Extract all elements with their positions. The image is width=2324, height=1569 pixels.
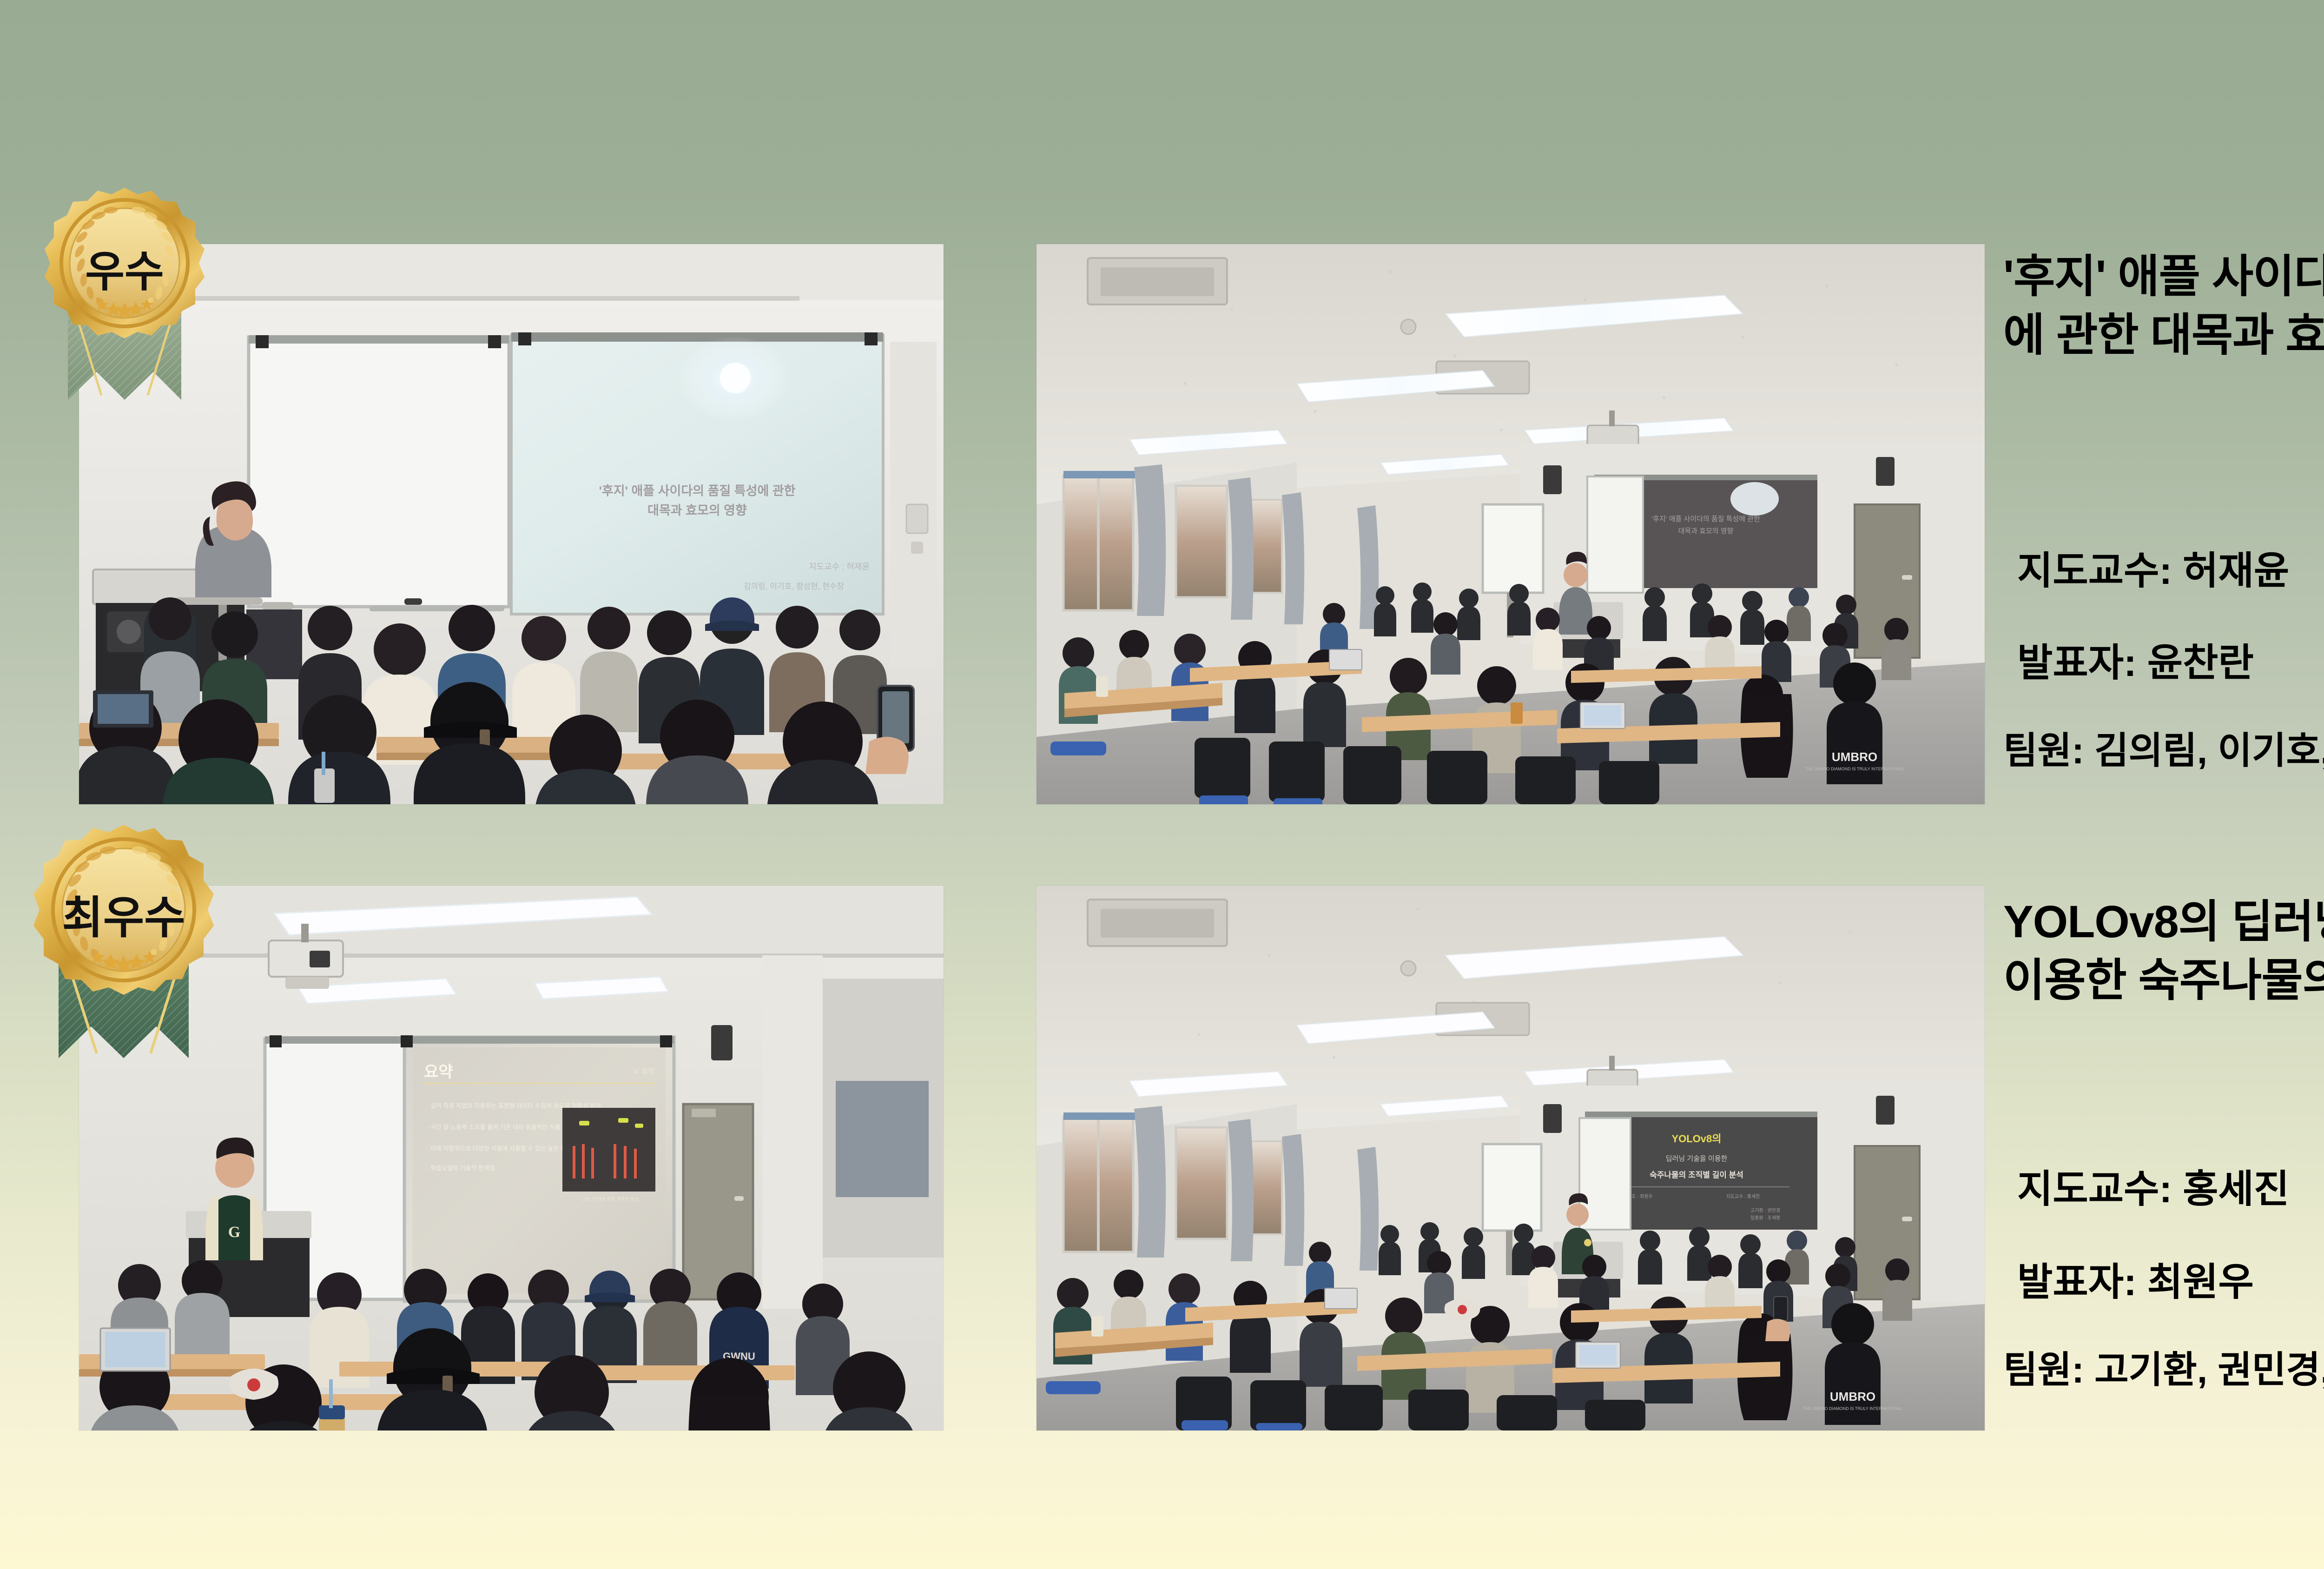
slide-yolo-title: YOLOv8의 — [1671, 1133, 1721, 1145]
entry-2-advisor-line: 지도교수: 홍세진 — [2017, 1168, 2289, 1211]
slide-canvas: '후지' 애플 사이다의 품질 특성에 관한 대목과 효모의 영향 지도교수 :… — [0, 0, 2324, 1569]
entry-1-team-label: 팀원: — [2003, 730, 2084, 771]
svg-text:UMBRO: UMBRO — [1830, 1390, 1875, 1403]
svg-text:딥러닝 기술을 이용한: 딥러닝 기술을 이용한 — [1666, 1155, 1728, 1163]
entry-1-advisor-label: 지도교수: — [2017, 549, 2172, 592]
entry-2-presenter-label: 발표자: — [2017, 1260, 2137, 1304]
entry-2-team-line: 팀원: 고기환, 권민경, 임종원, 조세영 — [2003, 1349, 2324, 1391]
svg-text:임종원 · 조세영: 임종원 · 조세영 — [1750, 1215, 1780, 1221]
entry-2-photo-right: YOLOv8의 딥러닝 기술을 이용한 숙주나물의 조직별 길이 분석 1조 ·… — [1037, 886, 1985, 1430]
slide-heading: 요약 — [424, 1063, 453, 1081]
entry-1-team-line: 팀원: 김의림, 이기호, 함성현, 현수창 — [2003, 730, 2324, 772]
entry-1-team-members: 김의림, 이기호, 함성현, 현수창 — [2094, 730, 2324, 771]
entry-2-advisor-name: 홍세진 — [2183, 1167, 2289, 1211]
svg-text:대목과 효모의 영향: 대목과 효모의 영향 — [1678, 527, 1734, 535]
svg-text:숙주나물의 조직별 길이 분석: 숙주나물의 조직별 길이 분석 — [1650, 1171, 1743, 1179]
slide-title-line2: 대목과 효모의 영향 — [647, 503, 747, 517]
svg-text:고기환 · 권민경: 고기환 · 권민경 — [1750, 1207, 1780, 1213]
svg-text:지도교수 : 홍세진: 지도교수 : 홍세진 — [1726, 1193, 1760, 1199]
award-badge-우수: 우수 — [32, 181, 218, 418]
svg-text:1조 · 최원우: 1조 · 최원우 — [1629, 1194, 1652, 1199]
svg-text:G: G — [228, 1224, 240, 1241]
svg-text:THE UMBRO DIAMOND IS TRULY INT: THE UMBRO DIAMOND IS TRULY INTERNATIONAL — [1805, 767, 1905, 771]
svg-text:지도교수 : 허재윤: 지도교수 : 허재윤 — [809, 562, 870, 571]
entry-1-presenter-label: 발표자: — [2017, 641, 2137, 684]
entry-1-title: '후지' 애플 사이다의 품질 특성 에 관한 대목과 효모의 영향 — [2003, 247, 2324, 364]
svg-text:· 그림. 탐지에 따른 계측한 모습: · 그림. 탐지에 따른 계측한 모습 — [579, 1197, 639, 1202]
entry-2-presenter-name: 최원우 — [2147, 1260, 2254, 1304]
slide-title-line1: '후지' 애플 사이다의 품질 특성에 관한 — [599, 484, 796, 498]
entry-2-team-members: 고기환, 권민경, 임종원, 조세영 — [2094, 1349, 2324, 1390]
entry-1-advisor-name: 허재윤 — [2183, 549, 2289, 592]
svg-text:THE UMBRO DIAMOND IS TRULY INT: THE UMBRO DIAMOND IS TRULY INTERNATIONAL — [1803, 1406, 1903, 1411]
entry-2-text-column: YOLOv8의 딥러닝 기술을 이용한 숙주나물의 조직별 길이 분석 — [2003, 893, 2324, 1010]
umbro-logo-text: UMBRO — [1832, 750, 1877, 764]
entry-1-photo-right: '후지' 애플 사이다의 품질 특성에 관한 대목과 효모의 영향 — [1037, 244, 1985, 804]
entry-1-advisor-line: 지도교수: 허재윤 — [2017, 549, 2289, 593]
award-badge-최우수: 최우수 — [19, 818, 229, 1079]
entry-1-presenter-line: 발표자: 윤찬란 — [2017, 642, 2254, 685]
entry-2-team-label: 팀원: — [2003, 1349, 2084, 1390]
svg-text:· 학습모델의 기술적 한계점.: · 학습모델의 기술적 한계점. — [427, 1165, 496, 1172]
entry-2-title: YOLOv8의 딥러닝 기술을 이용한 숙주나물의 조직별 길이 분석 — [2003, 893, 2324, 1010]
entry-1-text-column: '후지' 애플 사이다의 품질 특성 에 관한 대목과 효모의 영향 — [2003, 247, 2324, 364]
projected-slide: 요약 V. 요약 · 길이 측정 작업의 자동화는 표현형 데이터 수집의 속도… — [413, 1047, 666, 1294]
slide-section-label: V. 요약 — [634, 1067, 654, 1075]
svg-text:김의림, 이기호, 함성현, 현수창: 김의림, 이기호, 함성현, 현수창 — [744, 582, 844, 591]
entry-2-advisor-label: 지도교수: — [2017, 1167, 2172, 1211]
entry-1-presenter-name: 윤찬란 — [2147, 641, 2254, 684]
entry-2-presenter-line: 발표자: 최원우 — [2017, 1261, 2254, 1304]
svg-text:'후지' 애플 사이다의 품질 특성에 관한: '후지' 애플 사이다의 품질 특성에 관한 — [1651, 515, 1760, 523]
